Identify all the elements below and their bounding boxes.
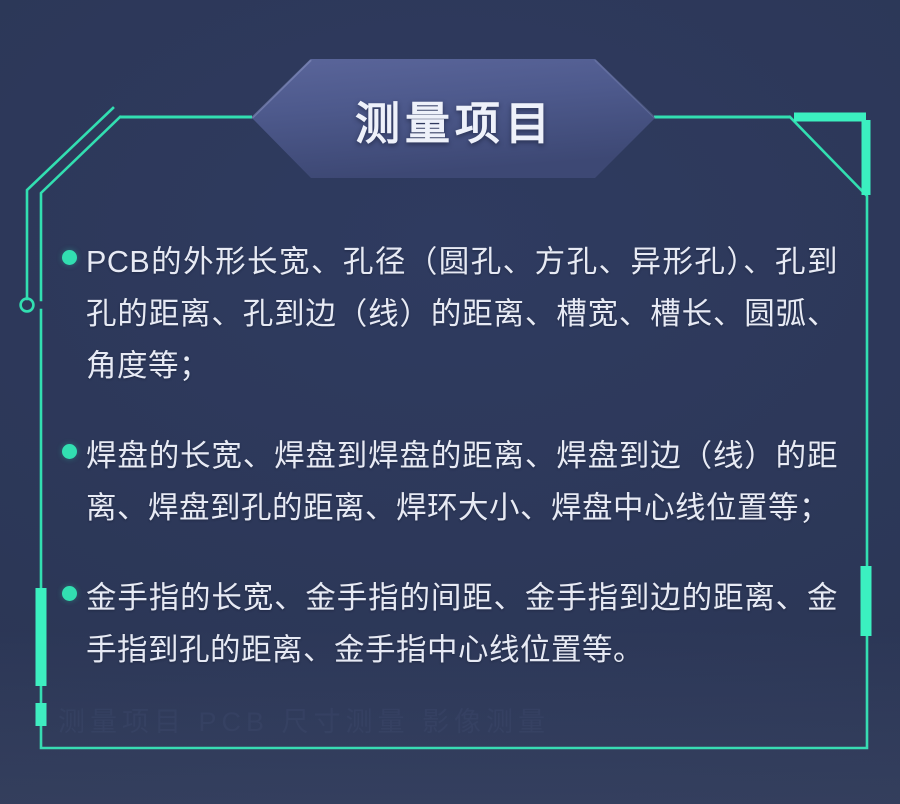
list-item-text: 金手指的长宽、金手指的间距、金手指到边的距离、金手指到孔的距离、金手指中心线位置… [86,572,838,676]
list-item: 金手指的长宽、金手指的间距、金手指到边的距离、金手指到孔的距离、金手指中心线位置… [62,572,838,676]
via-node-icon [21,299,34,312]
list-item: 焊盘的长宽、焊盘到焊盘的距离、焊盘到边（线）的距离、焊盘到孔的距离、焊环大小、焊… [62,430,838,534]
bullet-dot-icon [62,250,77,265]
title-banner: 测量项目 [249,57,657,181]
list-item-text: 焊盘的长宽、焊盘到焊盘的距离、焊盘到边（线）的距离、焊盘到孔的距离、焊环大小、焊… [86,430,838,534]
poster-canvas: 测量项目 PCB 尺寸测量 影像测量 [0,0,900,804]
bullet-dot-icon [62,444,77,459]
background-watermark: 测量项目 PCB 尺寸测量 影像测量 [58,700,848,739]
list-item-text: PCB的外形长宽、孔径（圆孔、方孔、异形孔）、孔到孔的距离、孔到边（线）的距离、… [86,236,838,392]
bullet-dot-icon [62,586,77,601]
page-title: 测量项目 [249,57,657,181]
list-item: PCB的外形长宽、孔径（圆孔、方孔、异形孔）、孔到孔的距离、孔到边（线）的距离、… [62,236,838,392]
measurement-items-list: PCB的外形长宽、孔径（圆孔、方孔、异形孔）、孔到孔的距离、孔到边（线）的距离、… [62,236,838,676]
